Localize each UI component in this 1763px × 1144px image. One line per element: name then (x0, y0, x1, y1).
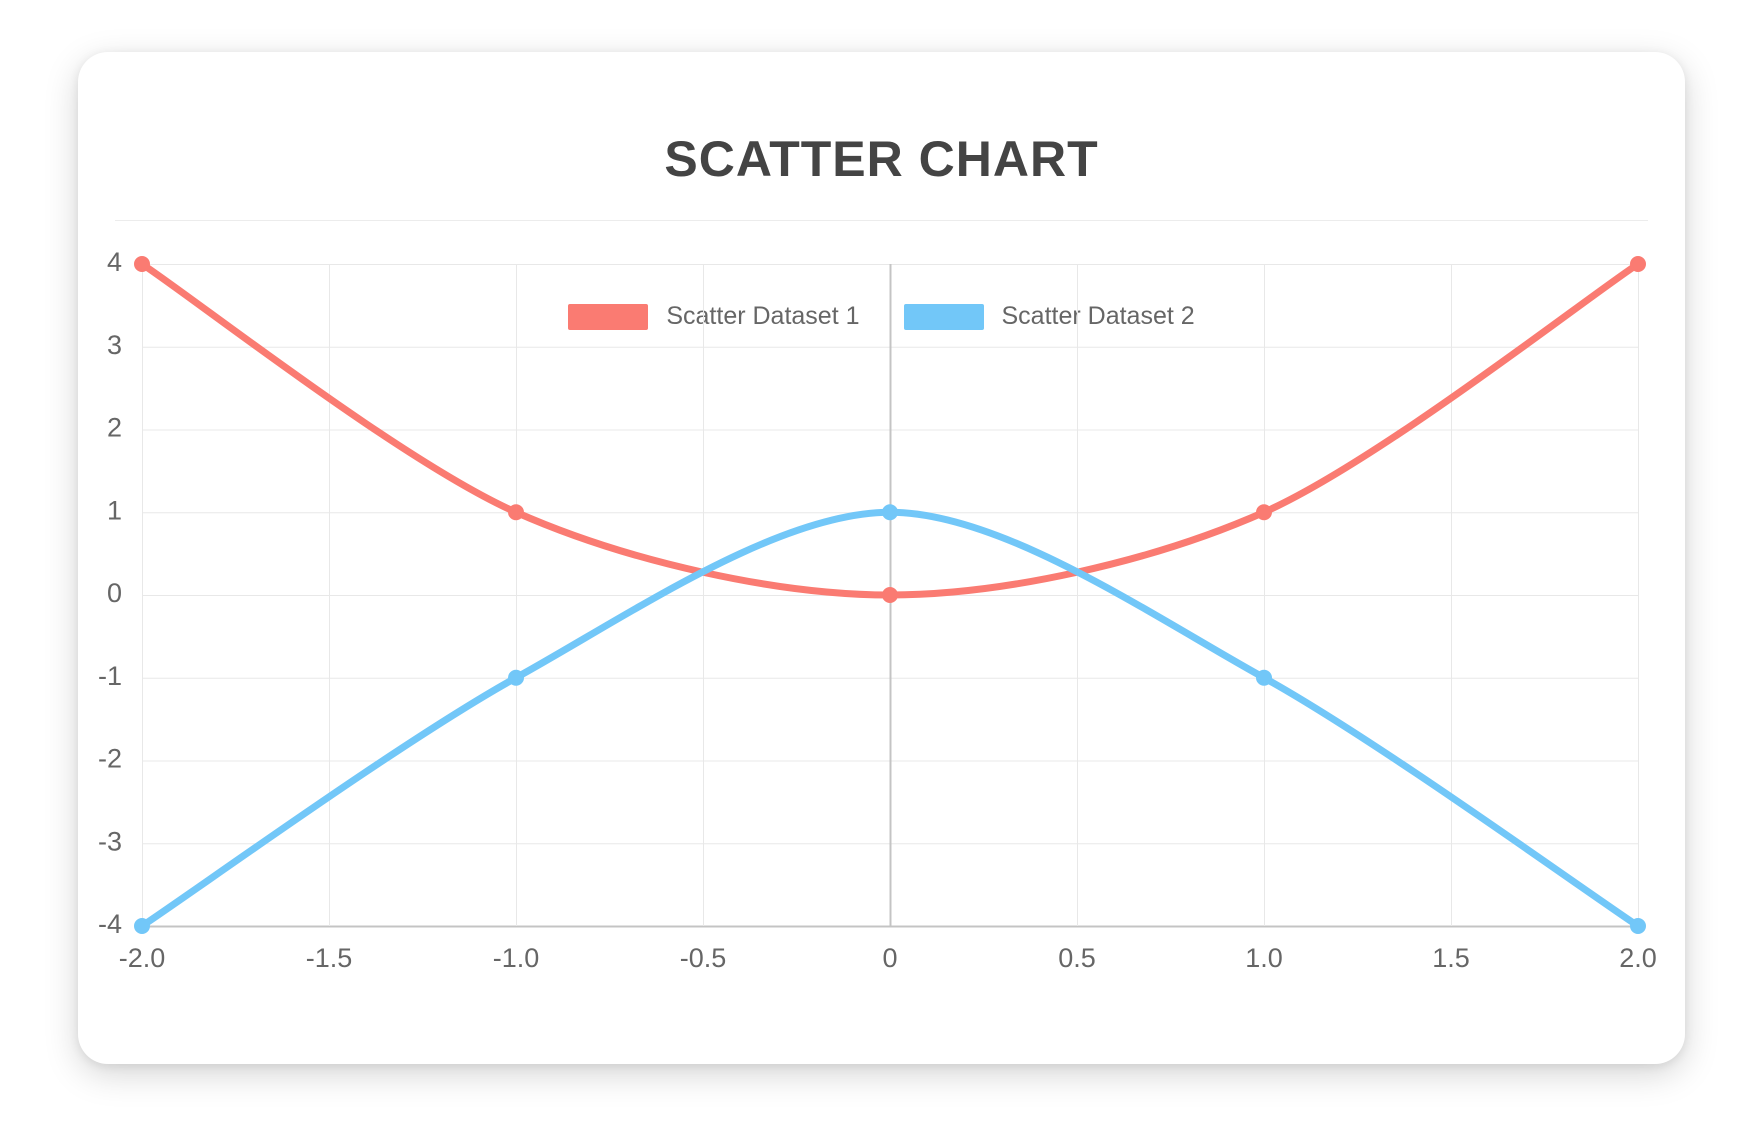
page-title: SCATTER CHART (78, 130, 1685, 188)
x-axis-tick-label: -1.0 (493, 943, 540, 973)
screenshot-root: SCATTER CHART Scatter Dataset 1Scatter D… (0, 0, 1763, 1144)
data-point[interactable] (509, 505, 523, 519)
x-axis-tick-label: -2.0 (119, 943, 166, 973)
data-point[interactable] (1257, 671, 1271, 685)
x-axis-tick-label: 1.5 (1432, 943, 1470, 973)
plot-area: 43210-1-2-3-4-2.0-1.5-1.0-0.500.51.01.52… (78, 52, 1685, 1064)
title-divider (115, 220, 1648, 221)
x-axis-tick-label: 1.0 (1245, 943, 1283, 973)
y-axis-tick-label: -1 (98, 661, 122, 691)
chart-card: SCATTER CHART Scatter Dataset 1Scatter D… (78, 52, 1685, 1064)
data-point[interactable] (509, 671, 523, 685)
legend-label: Scatter Dataset 2 (1002, 302, 1195, 331)
data-point[interactable] (883, 588, 897, 602)
y-axis-tick-label: -4 (98, 909, 122, 939)
series-2 (135, 505, 1645, 933)
legend-swatch-icon (568, 304, 648, 330)
series-line (142, 512, 1638, 926)
y-axis-tick-label: 3 (107, 330, 122, 360)
x-axis-tick-label: 0.5 (1058, 943, 1096, 973)
y-axis-tick-label: -3 (98, 826, 122, 856)
x-axis-tick-label: -0.5 (680, 943, 727, 973)
y-axis-tick-label: 2 (107, 413, 122, 443)
y-axis-tick-label: 1 (107, 495, 122, 525)
x-axis-tick-label: 2.0 (1619, 943, 1657, 973)
y-axis-tick-label: -2 (98, 744, 122, 774)
data-point[interactable] (135, 919, 149, 933)
y-axis-tick-label: 0 (107, 578, 122, 608)
x-axis-tick-label: 0 (882, 943, 897, 973)
legend-item-2[interactable]: Scatter Dataset 2 (904, 302, 1195, 331)
data-point[interactable] (883, 505, 897, 519)
legend-label: Scatter Dataset 1 (666, 302, 859, 331)
data-point[interactable] (1631, 257, 1645, 271)
legend-swatch-icon (904, 304, 984, 330)
data-point[interactable] (135, 257, 149, 271)
grid-lines (142, 264, 1639, 927)
data-point[interactable] (1257, 505, 1271, 519)
chart-legend: Scatter Dataset 1Scatter Dataset 2 (78, 302, 1685, 331)
axis-tick-labels: 43210-1-2-3-4-2.0-1.5-1.0-0.500.51.01.52… (98, 247, 1657, 973)
data-point[interactable] (1631, 919, 1645, 933)
y-axis-tick-label: 4 (107, 247, 122, 277)
scatter-plot-svg: 43210-1-2-3-4-2.0-1.5-1.0-0.500.51.01.52… (78, 52, 1685, 1064)
legend-item-1[interactable]: Scatter Dataset 1 (568, 302, 859, 331)
x-axis-tick-label: -1.5 (306, 943, 353, 973)
